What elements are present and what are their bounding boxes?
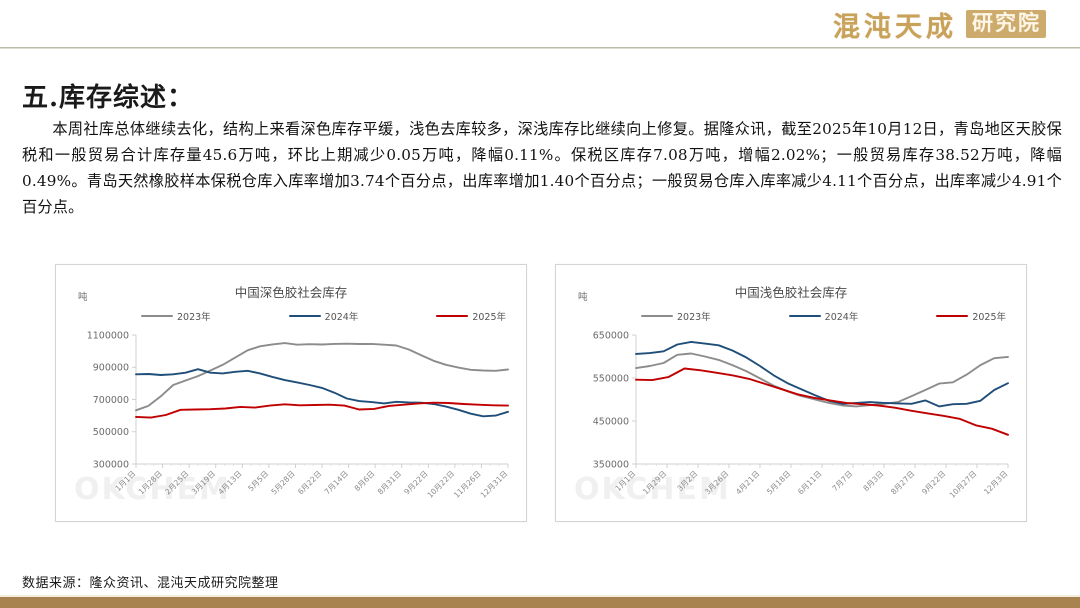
logo-seal-badge: 研究院 [966,10,1046,38]
source-note: 数据来源：隆众资讯、混沌天成研究院整理 [22,572,279,591]
plot-area-left: 30000050000070000090000011000001月1日1月28日… [56,265,526,521]
svg-text:8月27日: 8月27日 [889,469,916,496]
svg-text:8月3日: 8月3日 [861,469,885,493]
svg-text:4月13日: 4月13日 [216,469,243,496]
svg-text:500000: 500000 [93,427,129,438]
svg-text:6月11日: 6月11日 [796,469,823,496]
svg-text:3月26日: 3月26日 [703,469,730,496]
svg-text:6月22日: 6月22日 [296,469,323,496]
svg-text:4月21日: 4月21日 [734,469,761,496]
svg-text:900000: 900000 [93,363,129,374]
svg-text:1100000: 1100000 [87,330,129,341]
svg-text:12月3日: 12月3日 [982,469,1009,496]
svg-text:650000: 650000 [593,330,629,341]
svg-text:5月28日: 5月28日 [269,469,296,496]
svg-text:700000: 700000 [93,395,129,406]
svg-text:550000: 550000 [593,373,629,384]
svg-text:9月22日: 9月22日 [920,469,947,496]
svg-text:1月28日: 1月28日 [137,469,164,496]
svg-text:11月26日: 11月26日 [452,469,483,500]
slide-root: 混沌天成 研究院 五.库存综述： 本周社库总体继续去化，结构上来看深色库存平缓，… [0,0,1080,608]
svg-text:7月7日: 7月7日 [830,469,854,493]
svg-text:10月27日: 10月27日 [948,469,979,500]
svg-text:1月29日: 1月29日 [641,469,668,496]
header-divider [0,47,1080,49]
chart-panel-light-rubber: 吨 中国浅色胶社会库存 2023年 2024年 2025年 OKCHEM 350… [555,264,1027,522]
logo-wordmark: 混沌天成 [833,5,957,44]
svg-text:5月5日: 5月5日 [246,469,270,493]
svg-text:10月22日: 10月22日 [426,469,457,500]
plot-svg-right: 3500004500005500006500001月1日1月29日3月2日3月2… [556,265,1026,521]
svg-text:3月2日: 3月2日 [675,469,699,493]
svg-text:300000: 300000 [93,459,129,470]
body-paragraph: 本周社库总体继续去化，结构上来看深色库存平缓，浅色去库较多，深浅库存比继续向上修… [22,116,1062,220]
svg-text:8月6日: 8月6日 [353,469,377,493]
svg-text:450000: 450000 [593,416,629,427]
svg-text:5月18日: 5月18日 [765,469,792,496]
svg-text:350000: 350000 [593,459,629,470]
svg-text:1月1日: 1月1日 [113,469,137,493]
footer-bar [0,597,1080,608]
plot-svg-left: 30000050000070000090000011000001月1日1月28日… [56,265,526,521]
svg-text:2月25日: 2月25日 [163,469,190,496]
svg-text:8月31日: 8月31日 [376,469,403,496]
chart-panel-dark-rubber: 吨 中国深色胶社会库存 2023年 2024年 2025年 OKCHEM 300… [55,264,527,522]
page-title: 五.库存综述： [22,77,194,114]
svg-text:3月19日: 3月19日 [190,469,217,496]
svg-text:12月31日: 12月31日 [479,469,510,500]
plot-area-right: 3500004500005500006500001月1日1月29日3月2日3月2… [556,265,1026,521]
svg-text:1月1日: 1月1日 [613,469,637,493]
company-logo: 混沌天成 研究院 [833,3,1046,45]
svg-text:7月14日: 7月14日 [323,469,350,496]
